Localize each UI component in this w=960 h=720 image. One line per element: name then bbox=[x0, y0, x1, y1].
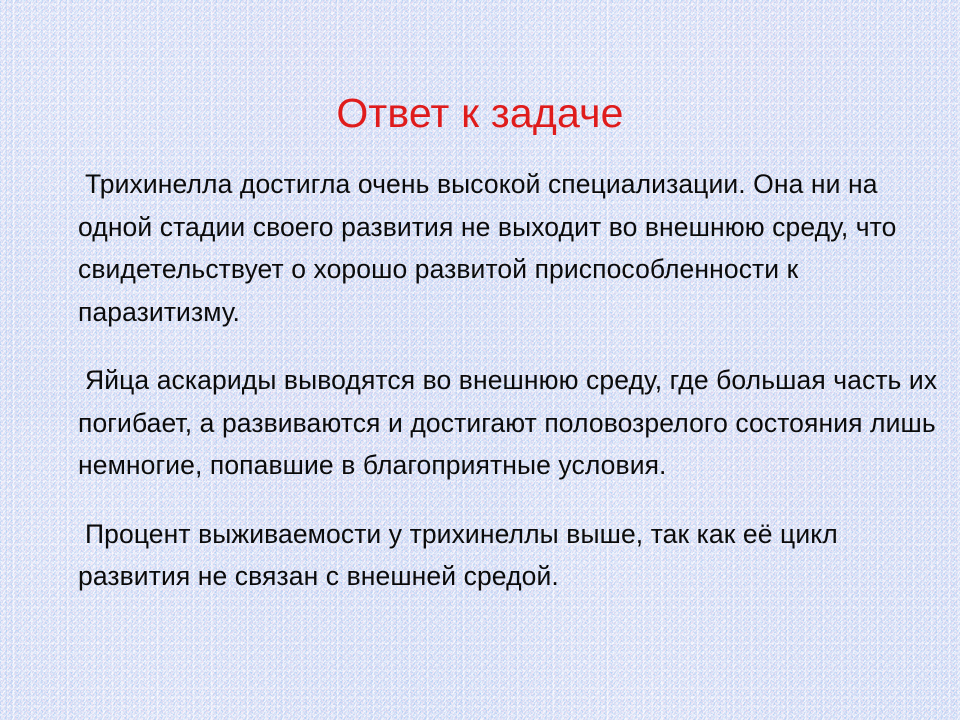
presentation-slide: Ответ к задаче Трихинелла достигла очень… bbox=[0, 0, 960, 720]
body-paragraph-1: Трихинелла достигла очень высокой специа… bbox=[78, 163, 946, 333]
slide-body: Трихинелла достигла очень высокой специа… bbox=[78, 163, 946, 598]
body-paragraph-3: Процент выживаемости у трихинеллы выше, … bbox=[78, 513, 946, 598]
slide-title: Ответ к задаче bbox=[0, 89, 960, 137]
slide-content: Ответ к задаче Трихинелла достигла очень… bbox=[0, 0, 960, 720]
body-paragraph-2: Яйца аскариды выводятся во внешнюю среду… bbox=[78, 359, 946, 487]
